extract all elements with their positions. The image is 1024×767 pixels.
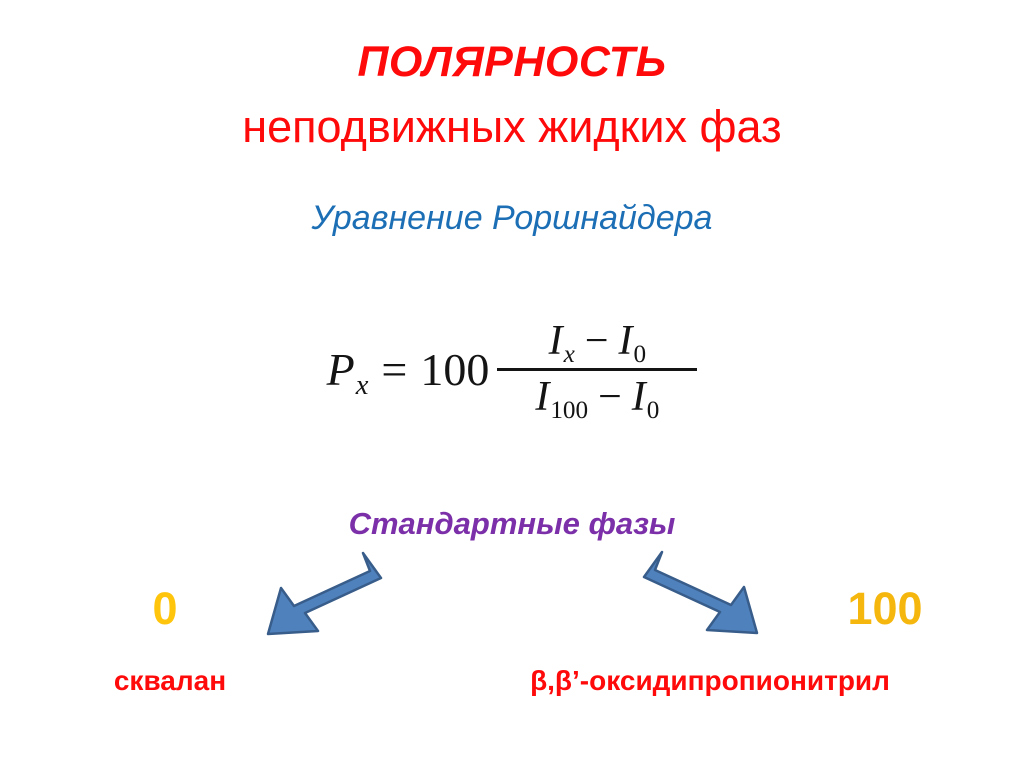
denominator-i-left-glyph: I [535, 374, 549, 420]
formula-numerator: Ix − I0 [543, 318, 652, 365]
denominator-symbol-i-left: I100 [535, 374, 588, 421]
denominator-minus-operator: − [598, 374, 622, 421]
page-title-main: ПОЛЯРНОСТЬ [0, 40, 1024, 85]
numerator-subscript-x: x [564, 341, 575, 368]
scale-value-left: 0 [120, 586, 210, 631]
arrow-down-left-shape [268, 553, 381, 634]
denominator-symbol-i-right: I0 [632, 374, 660, 421]
page-title-subtitle: неподвижных жидких фаз [0, 103, 1024, 150]
numerator-i-right-glyph: I [619, 318, 633, 364]
fraction-bar [497, 368, 697, 371]
formula-denominator: I100 − I0 [529, 374, 665, 421]
phase-name-left: сквалан [45, 667, 295, 695]
formula-coefficient: 100 [420, 347, 489, 393]
slide-canvas: ПОЛЯРНОСТЬ неподвижных жидких фаз Уравне… [0, 0, 1024, 767]
numerator-symbol-i-right: I0 [619, 318, 647, 365]
formula-equals-sign: = [381, 347, 407, 393]
formula-left-hand-side: Px [327, 347, 369, 393]
numerator-i-left-glyph: I [549, 318, 563, 364]
formula-fraction: Ix − I0 I100 − I0 [497, 318, 697, 421]
scale-value-right: 100 [810, 586, 960, 631]
formula-symbol-p: P [327, 347, 355, 393]
numerator-subscript-zero: 0 [634, 341, 647, 368]
rohrschneider-formula: Px = 100 Ix − I0 I100 − I0 [0, 318, 1024, 421]
arrow-down-right-shape [644, 552, 757, 633]
equation-caption: Уравнение Роршнайдера [0, 199, 1024, 238]
denominator-subscript-zero: 0 [647, 397, 660, 424]
arrow-down-left-icon [268, 553, 381, 634]
denominator-subscript-hundred: 100 [550, 397, 588, 424]
formula-subscript-x: x [356, 372, 369, 401]
denominator-i-right-glyph: I [632, 374, 646, 420]
numerator-minus-operator: − [585, 318, 609, 365]
arrow-down-right-icon [644, 552, 757, 633]
numerator-symbol-i-left: Ix [549, 318, 575, 365]
phase-name-right: β,β’-оксидипропионитрил [440, 667, 980, 695]
standard-phases-label: Стандартные фазы [0, 506, 1024, 542]
